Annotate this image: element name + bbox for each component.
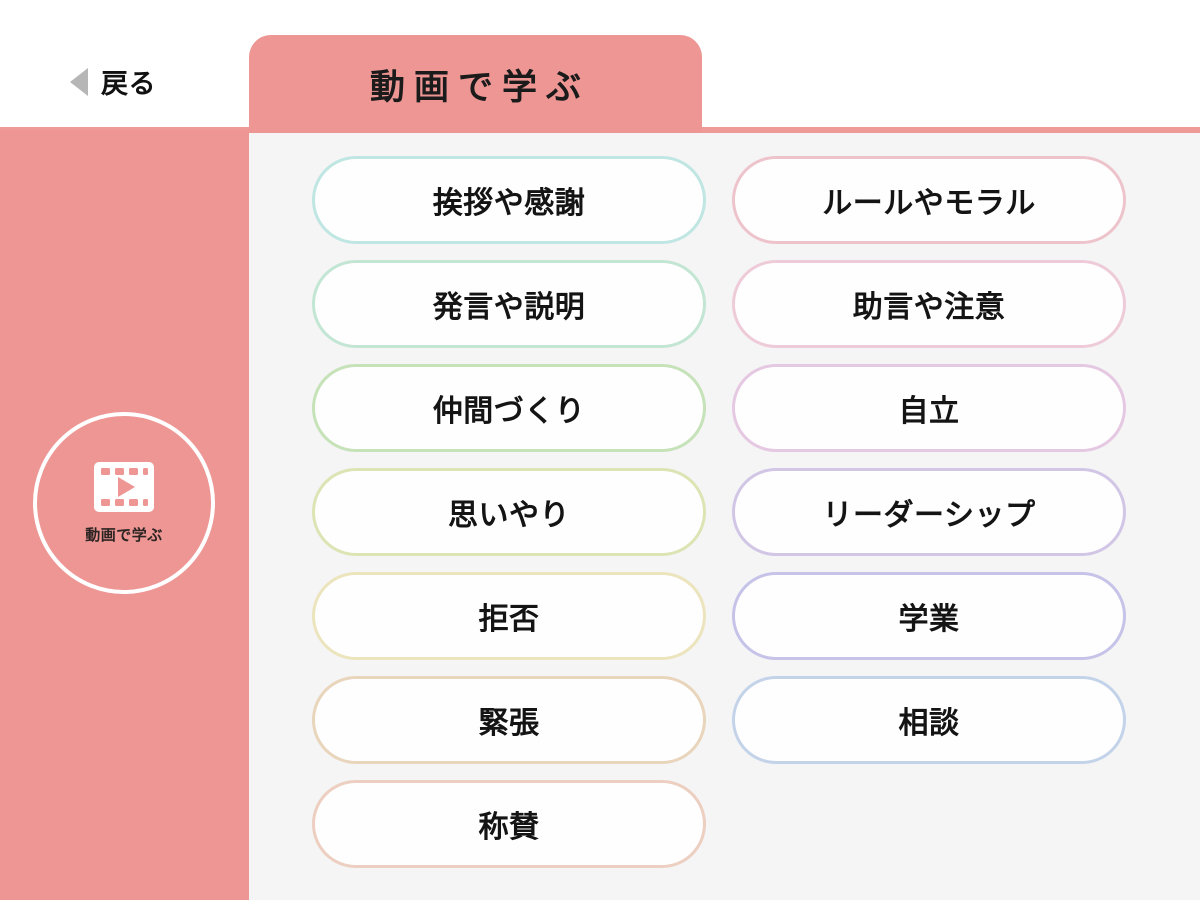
topic-column-right: ルールやモラル 助言や注意 自立 リーダーシップ 学業 相談 [732, 156, 1126, 868]
topic-button[interactable]: ルールやモラル [732, 156, 1126, 244]
topic-button[interactable]: 称賛 [312, 780, 706, 868]
topic-button[interactable]: 自立 [732, 364, 1126, 452]
topic-grid: 挨拶や感謝 発言や説明 仲間づくり 思いやり 拒否 緊張 称賛 [312, 156, 1126, 868]
tab-video-learning[interactable]: 動画で学ぶ [249, 35, 702, 133]
back-button[interactable]: 戻る [70, 62, 156, 101]
topic-button-label: 相談 [899, 698, 960, 742]
topic-button-label: リーダーシップ [823, 490, 1036, 534]
topic-button-label: 自立 [899, 386, 960, 430]
topic-button-label: 仲間づくり [433, 386, 586, 430]
topic-button[interactable]: 緊張 [312, 676, 706, 764]
topic-button-label: 思いやり [448, 490, 570, 534]
sidebar-item-video-learning[interactable]: 動画で学ぶ [33, 412, 215, 594]
topic-button-label: 称賛 [479, 802, 540, 846]
topic-button[interactable]: 挨拶や感謝 [312, 156, 706, 244]
content-panel: 挨拶や感謝 発言や説明 仲間づくり 思いやり 拒否 緊張 称賛 [249, 133, 1200, 900]
topic-button[interactable]: 仲間づくり [312, 364, 706, 452]
topic-button-label: 拒否 [479, 594, 540, 638]
topic-button[interactable]: 助言や注意 [732, 260, 1126, 348]
page-title: 動画で学ぶ [361, 59, 590, 110]
topic-button-label: ルールやモラル [822, 178, 1036, 222]
topic-button[interactable]: 思いやり [312, 468, 706, 556]
triangle-left-icon [70, 68, 88, 96]
topic-button[interactable]: 相談 [732, 676, 1126, 764]
topic-button[interactable]: 学業 [732, 572, 1126, 660]
topic-column-left: 挨拶や感謝 発言や説明 仲間づくり 思いやり 拒否 緊張 称賛 [312, 156, 706, 868]
back-button-label: 戻る [101, 62, 156, 101]
sidebar: 動画で学ぶ [0, 130, 249, 900]
film-play-icon [93, 461, 155, 513]
topic-button-label: 緊張 [479, 698, 540, 742]
sidebar-item-label: 動画で学ぶ [85, 524, 163, 545]
topic-button[interactable]: 拒否 [312, 572, 706, 660]
topic-button-label: 助言や注意 [853, 282, 1006, 326]
topic-button-label: 学業 [899, 594, 960, 638]
topic-button-label: 発言や説明 [433, 282, 586, 326]
app-root: 戻る 動画で学ぶ 動画 [0, 0, 1200, 900]
topic-button[interactable]: 発言や説明 [312, 260, 706, 348]
topic-button[interactable]: リーダーシップ [732, 468, 1126, 556]
topic-button-label: 挨拶や感謝 [433, 178, 586, 222]
